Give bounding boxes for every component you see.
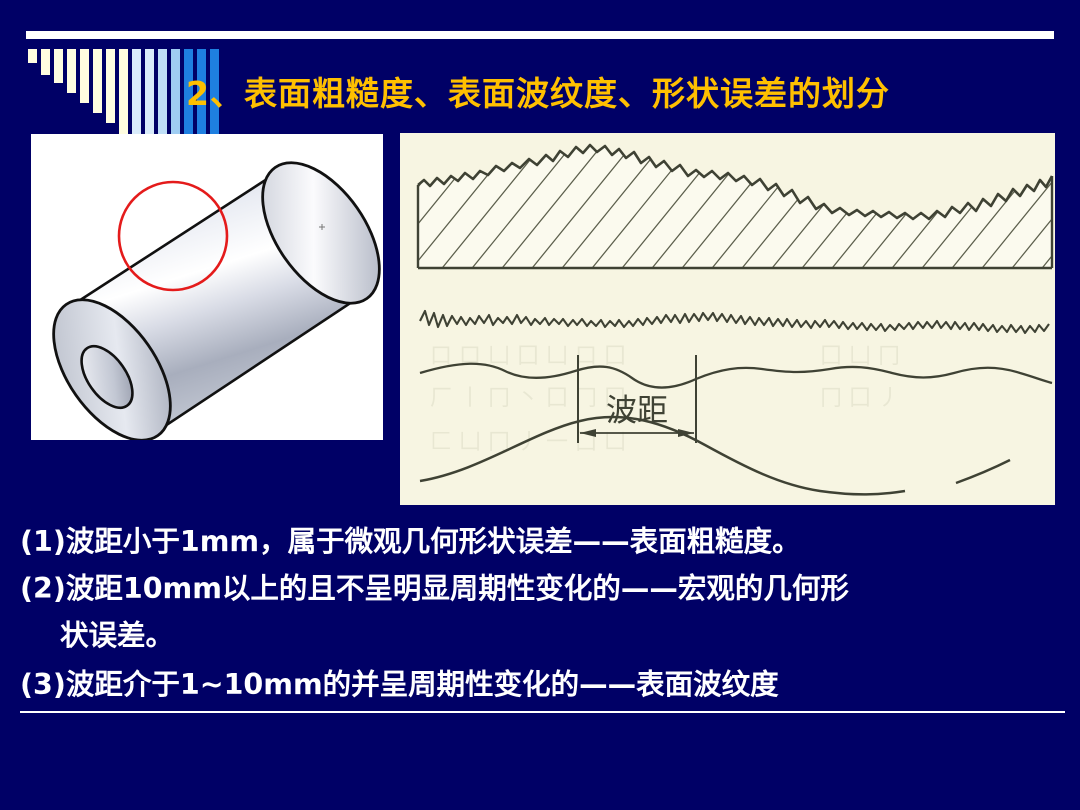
deco-bar-7 xyxy=(106,49,115,123)
bullet-item-2: (2)波距10mm以上的且不呈明显周期性变化的——宏观的几何形 状误差。 xyxy=(20,565,1065,659)
deco-bar-5 xyxy=(80,49,89,103)
surface-profile-traces: 口 口 凵 囗 凵 口 囗 厂 丨 冂 丶 囗 冂 囗 匚 凵 冂 丿 一 囗 … xyxy=(400,133,1055,505)
svg-text:厂 丨 冂 丶 囗 冂 囗: 厂 丨 冂 丶 囗 冂 囗 xyxy=(430,386,626,411)
deco-bar-8 xyxy=(119,49,128,135)
deco-bar-3 xyxy=(54,49,63,83)
bullet-item-1: (1)波距小于1mm，属于微观几何形状误差——表面粗糙度。 xyxy=(20,518,1065,565)
svg-text:囗 凵 冂: 囗 凵 冂 xyxy=(820,344,900,369)
bullet-item-2-continuation: 状误差。 xyxy=(20,612,1065,659)
deco-bar-2 xyxy=(41,49,50,75)
svg-text:冂 囗 丿: 冂 囗 丿 xyxy=(820,386,900,411)
page-title: 2、表面粗糙度、表面波纹度、形状误差的划分 xyxy=(186,74,1046,114)
hollow-cylinder-3d-illustration xyxy=(31,134,383,440)
deco-bar-1 xyxy=(28,49,37,63)
deco-bar-4 xyxy=(67,49,76,93)
top-divider-rule xyxy=(26,31,1054,39)
deco-bar-6 xyxy=(93,49,102,113)
slide-canvas: 2、表面粗糙度、表面波纹度、形状误差的划分 xyxy=(0,0,1080,810)
bullet-item-3: (3)波距介于1~10mm的并呈周期性变化的——表面波纹度 xyxy=(20,661,1065,713)
bullet-item-2-text: (2)波距10mm以上的且不呈明显周期性变化的——宏观的几何形 xyxy=(20,572,849,605)
bullet-list: (1)波距小于1mm，属于微观几何形状误差——表面粗糙度。 (2)波距10mm以… xyxy=(20,518,1065,713)
